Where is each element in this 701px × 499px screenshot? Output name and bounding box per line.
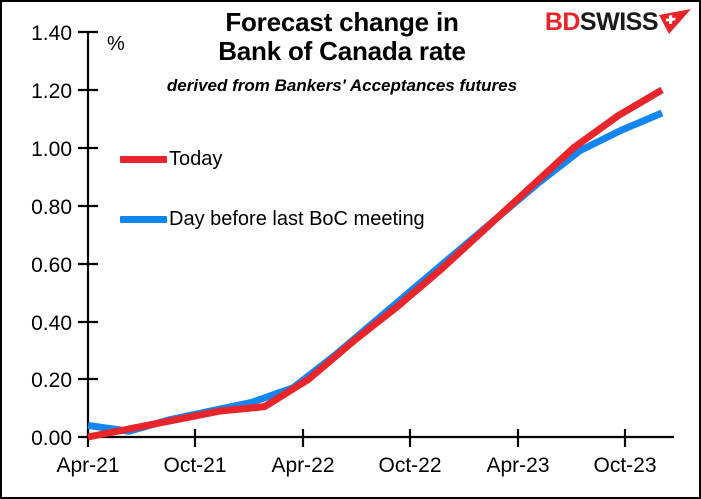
- chart-legend: Today Day before last BoC meeting: [120, 144, 425, 234]
- chart-page: Forecast change in Bank of Canada rate d…: [0, 0, 701, 499]
- y-axis-labels: 1.40 1.20 1.00 0.80 0.60 0.40 0.20 0.00: [31, 22, 72, 450]
- series-line-today: [88, 90, 662, 437]
- y-tick-label: 0.80: [31, 196, 72, 219]
- x-tick-label: Apr-22: [271, 454, 334, 477]
- x-tick-label: Oct-22: [378, 454, 441, 477]
- x-tick-label: Oct-23: [593, 454, 656, 477]
- y-tick-label: 0.40: [31, 312, 72, 335]
- x-axis-labels: Apr-21 Oct-21 Apr-22 Oct-22 Apr-23 Oct-2…: [56, 454, 656, 477]
- legend-label-day-before: Day before last BoC meeting: [169, 208, 425, 231]
- y-tick-label: 1.20: [31, 80, 72, 103]
- y-tick-label: 1.00: [31, 138, 72, 161]
- legend-label-today: Today: [169, 148, 222, 171]
- x-tick-label: Apr-23: [486, 454, 549, 477]
- legend-item-day-before: Day before last BoC meeting: [120, 204, 425, 234]
- line-chart-plot: 1.40 1.20 1.00 0.80 0.60 0.40 0.20 0.00 …: [2, 2, 701, 499]
- legend-swatch-day-before: [120, 216, 167, 223]
- y-axis-unit-label: %: [107, 33, 125, 55]
- x-tick-label: Apr-21: [56, 454, 119, 477]
- y-tick-label: 0.60: [31, 254, 72, 277]
- y-tick-label: 1.40: [31, 22, 72, 45]
- legend-swatch-today: [120, 156, 167, 163]
- y-tick-label: 0.20: [31, 369, 72, 392]
- x-tick-label: Oct-21: [163, 454, 226, 477]
- legend-item-today: Today: [120, 144, 425, 174]
- y-tick-label: 0.00: [31, 427, 72, 450]
